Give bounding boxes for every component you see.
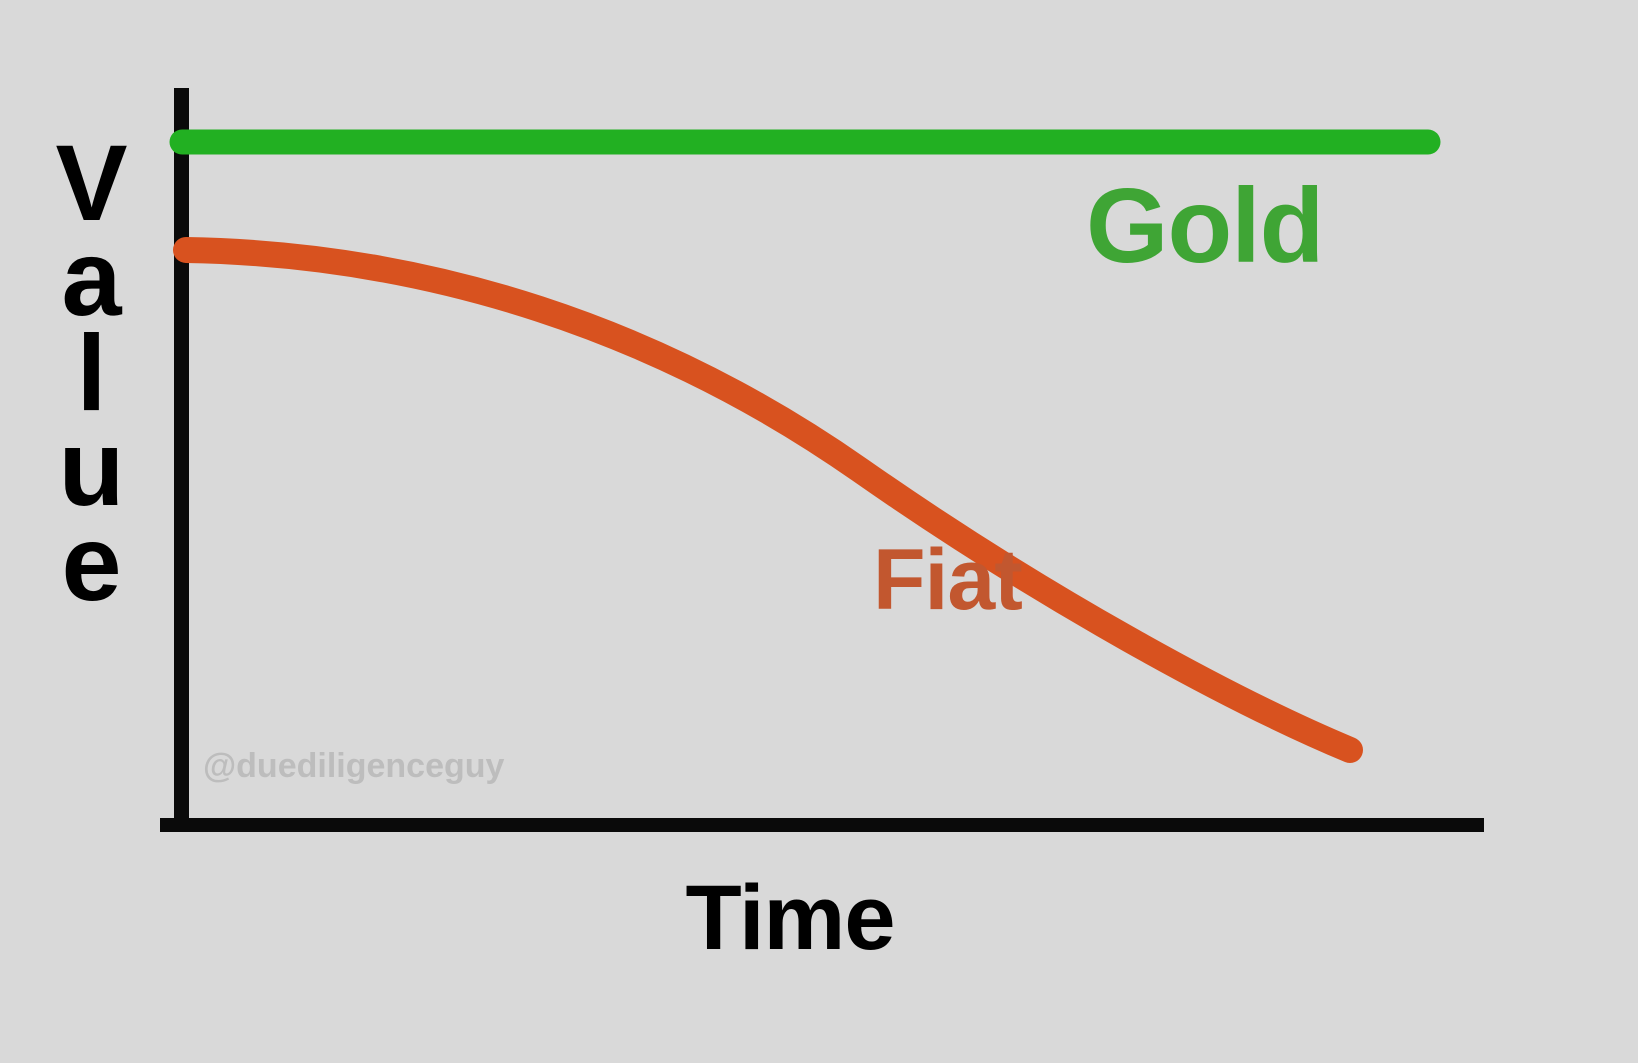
gold-series-label: Gold	[1086, 166, 1323, 287]
watermark-handle: @duediligenceguy	[203, 747, 504, 786]
fiat-series-line	[186, 250, 1350, 750]
plot-lines	[0, 0, 1638, 1063]
chart-figure: V a l u e Time Gold Fiat @duediligencegu…	[0, 0, 1638, 1063]
fiat-series-label: Fiat	[873, 531, 1022, 630]
